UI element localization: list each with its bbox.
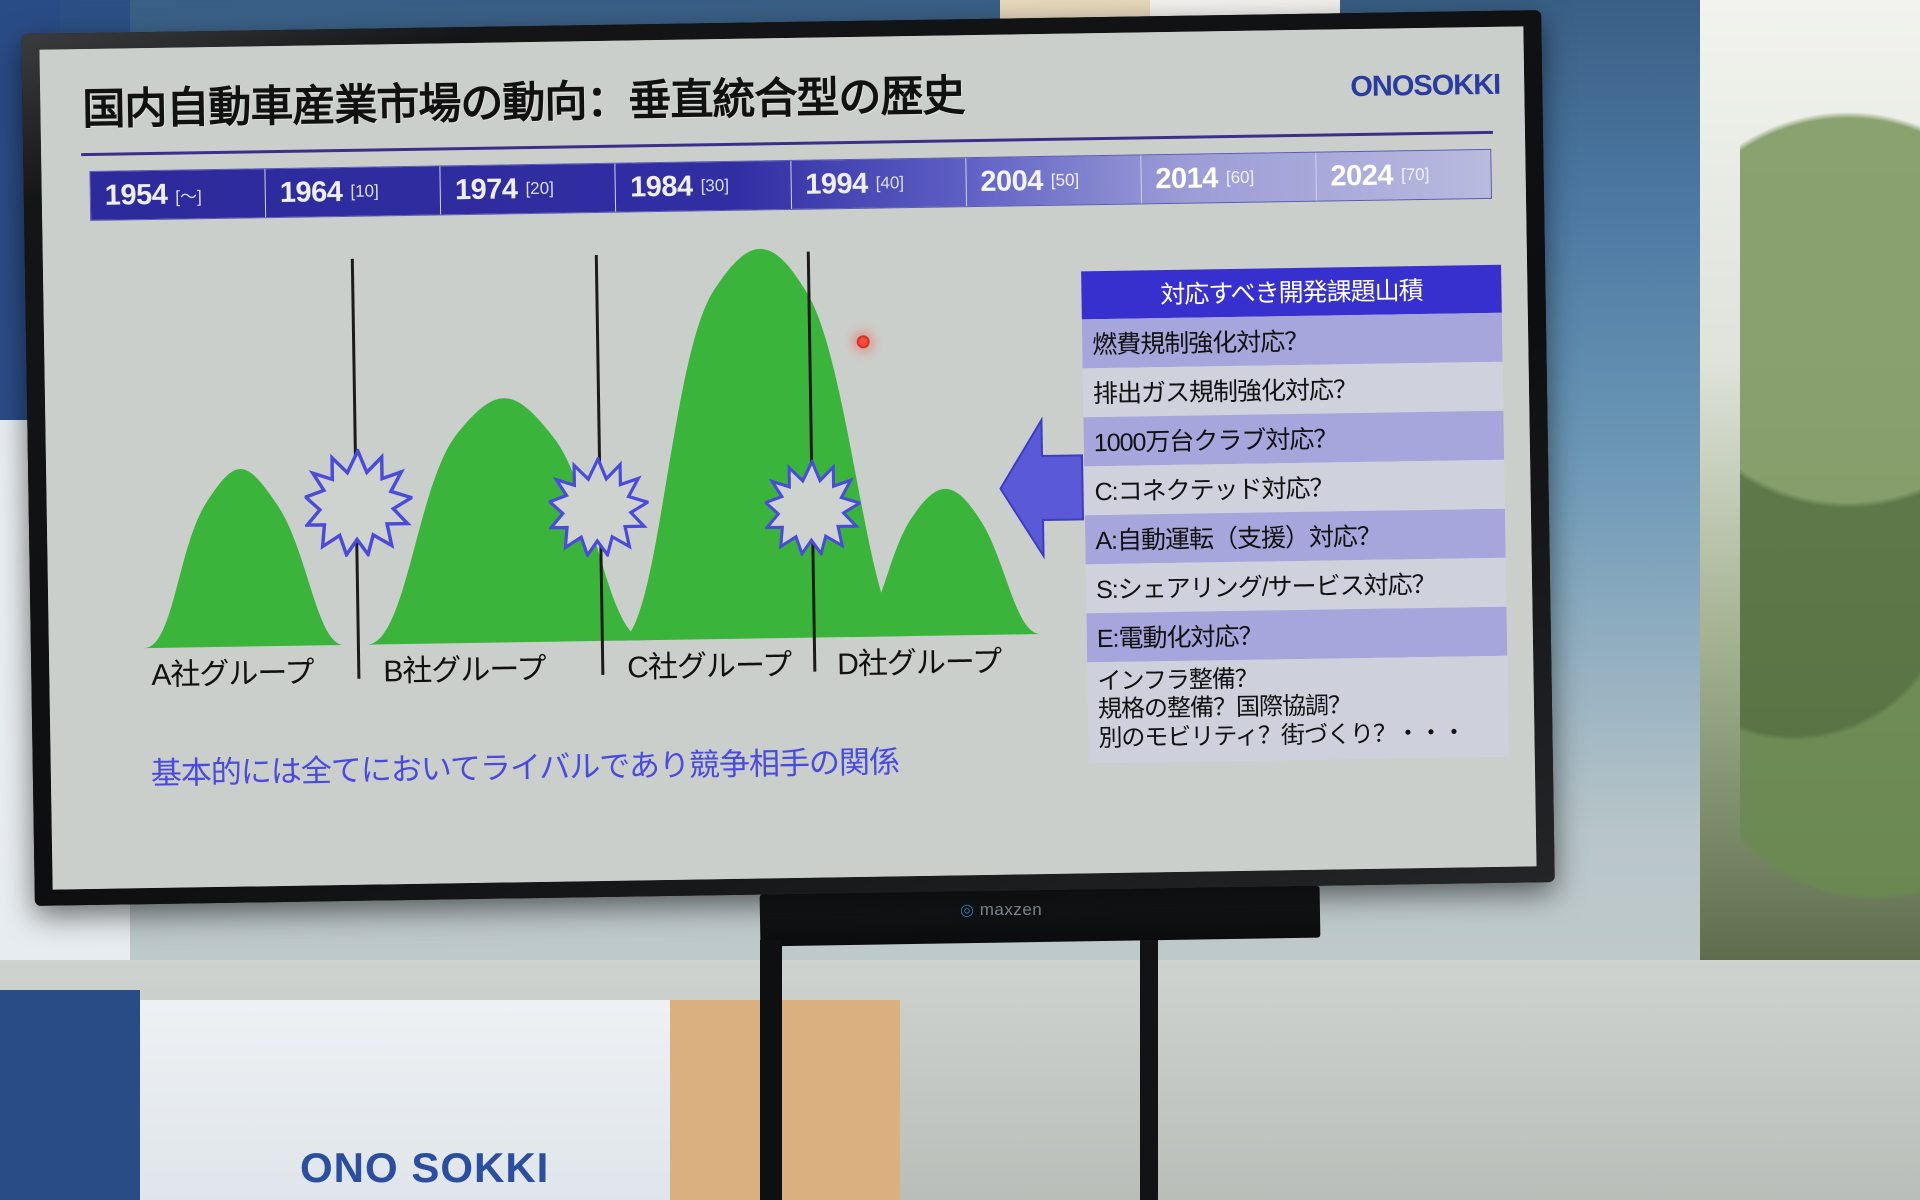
photo-scene: ONO SOKKI ◎ maxzen 国内自動車産業市場の動向：垂直統合型の歴史… [0, 0, 1920, 1200]
market-curve-chart: A社グループ B社グループ C社グループ D社グループ [83, 233, 1100, 679]
panel-row: 排出ガス規制強化対応？ [1083, 362, 1504, 418]
panel-row: 燃費規制強化対応？ [1082, 313, 1503, 369]
background-bottom-orange-panel [670, 1000, 900, 1200]
panel-footer-row: 別のモビリティ？街づくり？・・・ [1098, 718, 1508, 753]
timeline-cell-2024: 2024[70] [1316, 150, 1491, 201]
panel-row: 1000万台クラブ対応？ [1083, 411, 1504, 467]
timeline-year: 1974 [455, 173, 518, 207]
timeline-bar: 1954[～]1964[10]1974[20]1984[30]1994[40]2… [89, 149, 1492, 221]
timeline-index: [60] [1226, 168, 1255, 188]
timeline-index: [～] [175, 182, 202, 207]
logo-sokki: SOKKI [1413, 69, 1500, 102]
timeline-cell-2004: 2004[50] [966, 155, 1142, 206]
presentation-slide: 国内自動車産業市場の動向：垂直統合型の歴史 ONOSOKKI 1954[～]19… [39, 26, 1536, 889]
onosokki-logo: ONOSOKKI [1350, 69, 1500, 104]
curve-group-c [613, 247, 907, 641]
timeline-cell-2014: 2014[60] [1141, 153, 1317, 204]
panel-row: S:シェアリング/サービス対応？ [1086, 558, 1507, 614]
panel-row: C:コネクテッド対応？ [1084, 460, 1505, 516]
development-issues-panel: 対応すべき開発課題山積 燃費規制強化対応？ 排出ガス規制強化対応？ 1000万台… [1081, 265, 1509, 763]
stand-pole-right [1140, 940, 1158, 1200]
background-bottom-blue-panel [0, 990, 140, 1200]
panel-row: A:自動運転（支援）対応？ [1085, 509, 1506, 565]
timeline-cell-1964: 1964[10] [266, 166, 442, 217]
floor-banner-logo: ONO SOKKI [300, 1144, 549, 1192]
timeline-year: 2004 [980, 164, 1043, 198]
left-arrow-icon [997, 411, 1085, 564]
tv-screen: 国内自動車産業市場の動向：垂直統合型の歴史 ONOSOKKI 1954[～]19… [39, 26, 1536, 889]
starburst-icon-2 [548, 456, 650, 558]
background-foliage [1740, 40, 1920, 940]
timeline-index: [40] [876, 173, 905, 193]
starburst-icon-3 [764, 459, 861, 556]
rivalry-note: 基本的には全てにおいてライバルであり競争相手の関係 [150, 736, 899, 793]
timeline-index: [70] [1401, 165, 1430, 185]
tv-brand-text: maxzen [980, 900, 1043, 919]
timeline-year: 1964 [280, 175, 343, 209]
timeline-cell-1994: 1994[40] [791, 158, 967, 209]
logo-ono: ONO [1350, 70, 1414, 103]
tv-brand-label: ◎ maxzen [960, 900, 1042, 920]
panel-row: E:電動化対応？ [1086, 607, 1507, 663]
timeline-year: 2024 [1330, 159, 1393, 193]
panel-footer-rows: インフラ整備？ 規格の整備？国際協調？ 別のモビリティ？街づくり？・・・ [1087, 656, 1509, 764]
timeline-year: 1994 [805, 167, 868, 201]
timeline-cell-1984: 1984[30] [616, 161, 792, 212]
group-label-c: C社グループ [627, 640, 792, 687]
group-label-b: B社グループ [383, 644, 546, 691]
stand-pole-left [760, 940, 782, 1200]
timeline-index: [30] [700, 176, 729, 196]
slide-title: 国内自動車産業市場の動向：垂直統合型の歴史 [82, 61, 965, 137]
group-label-d: D社グループ [837, 637, 1002, 684]
group-label-a: A社グループ [151, 647, 314, 694]
timeline-index: [50] [1051, 170, 1080, 190]
timeline-index: [20] [525, 179, 554, 199]
timeline-year: 1984 [630, 170, 693, 204]
panel-header: 対応すべき開発課題山積 [1081, 265, 1502, 320]
timeline-index: [10] [350, 181, 379, 201]
timeline-year: 2014 [1155, 162, 1218, 196]
tv-monitor: 国内自動車産業市場の動向：垂直統合型の歴史 ONOSOKKI 1954[～]19… [21, 10, 1555, 906]
timeline-year: 1954 [105, 178, 168, 212]
timeline-cell-1954: 1954[～] [90, 169, 266, 220]
timeline-cell-1974: 1974[20] [441, 164, 617, 215]
starburst-icon-1 [304, 448, 414, 558]
